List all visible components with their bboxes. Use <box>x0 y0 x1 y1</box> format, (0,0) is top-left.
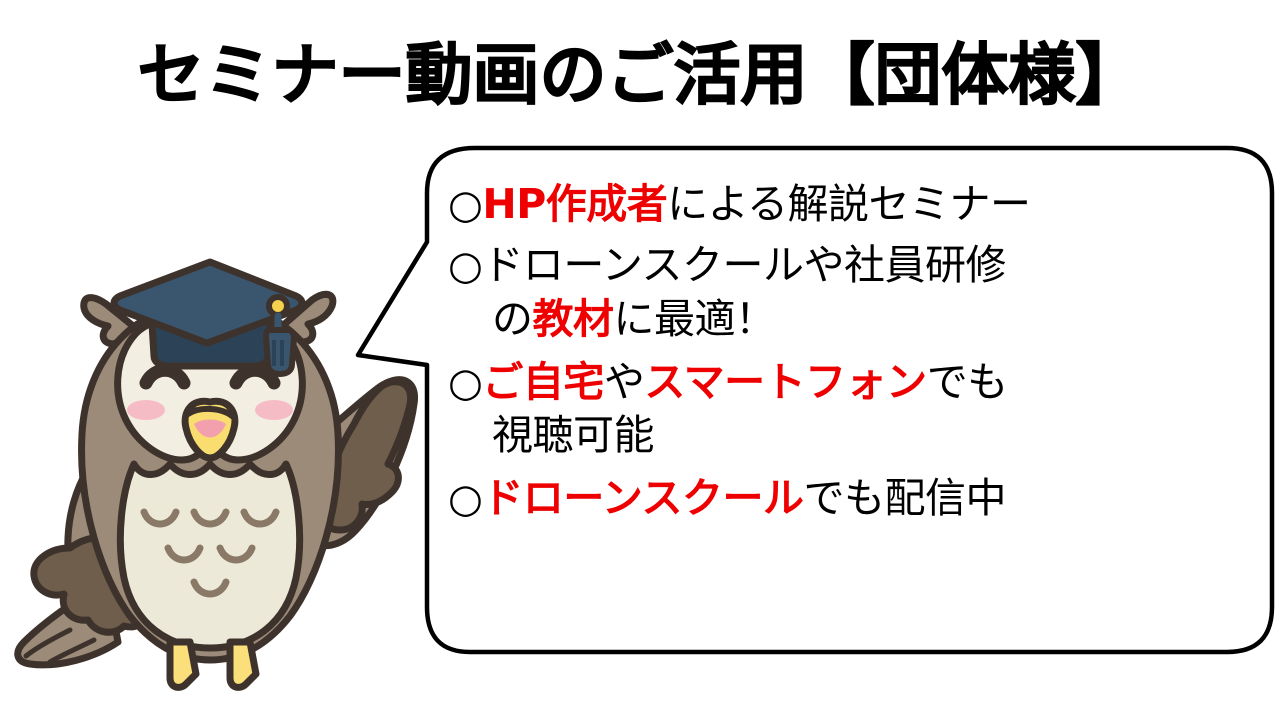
line-2-normal: ドローンスクールや社員研修 <box>482 241 1006 289</box>
bubble-line-1: ○HP作成者による解説セミナー <box>448 178 1258 231</box>
line-3-normal-a: や <box>604 358 645 406</box>
speech-bubble: ○HP作成者による解説セミナー ○ドローンスクールや社員研修の教材に最適！ ○ご… <box>330 140 1280 665</box>
line-3-normal-b: でも <box>927 358 1008 406</box>
poster-canvas: セミナー動画のご活用【団体様】 ○HP作成者による解説セミナー ○ドローンスクー… <box>0 0 1280 720</box>
owl-foot-right <box>230 642 256 687</box>
line-3-highlight-a: ご自宅 <box>482 358 604 406</box>
owl-cheek-left <box>127 400 165 420</box>
bubble-line-2: ○ドローンスクールや社員研修の教材に最適！ <box>448 239 1258 346</box>
bullet-icon: ○ <box>448 243 482 289</box>
owl-cheek-right <box>255 400 293 420</box>
line-3-highlight-b: スマートフォン <box>644 358 926 406</box>
line-3-cont: 視聴可能 <box>492 411 654 459</box>
bubble-text-block: ○HP作成者による解説セミナー ○ドローンスクールや社員研修の教材に最適！ ○ご… <box>448 178 1258 638</box>
line-2-cont-highlight: 教材 <box>533 295 614 343</box>
line-2-cont-a: の <box>492 295 533 343</box>
bubble-line-4: ○ドローンスクールでも配信中 <box>448 472 1258 525</box>
bullet-icon: ○ <box>448 182 482 228</box>
line-1-normal: による解説セミナー <box>667 180 1030 228</box>
line-4-normal: でも配信中 <box>804 474 1007 522</box>
bubble-line-3: ○ご自宅やスマートフォンでも視聴可能 <box>448 356 1258 463</box>
line-1-highlight: HP作成者 <box>482 180 667 228</box>
bullet-icon: ○ <box>448 476 482 522</box>
cap-button <box>269 297 287 315</box>
owl-foot-left <box>170 642 196 687</box>
line-4-highlight: ドローンスクール <box>482 474 803 522</box>
owl-mascot <box>10 238 430 706</box>
page-title: セミナー動画のご活用【団体様】 <box>0 42 1280 109</box>
owl-belly <box>120 464 299 648</box>
bullet-icon: ○ <box>448 360 482 406</box>
line-2-cont-b: に最適！ <box>614 295 776 343</box>
